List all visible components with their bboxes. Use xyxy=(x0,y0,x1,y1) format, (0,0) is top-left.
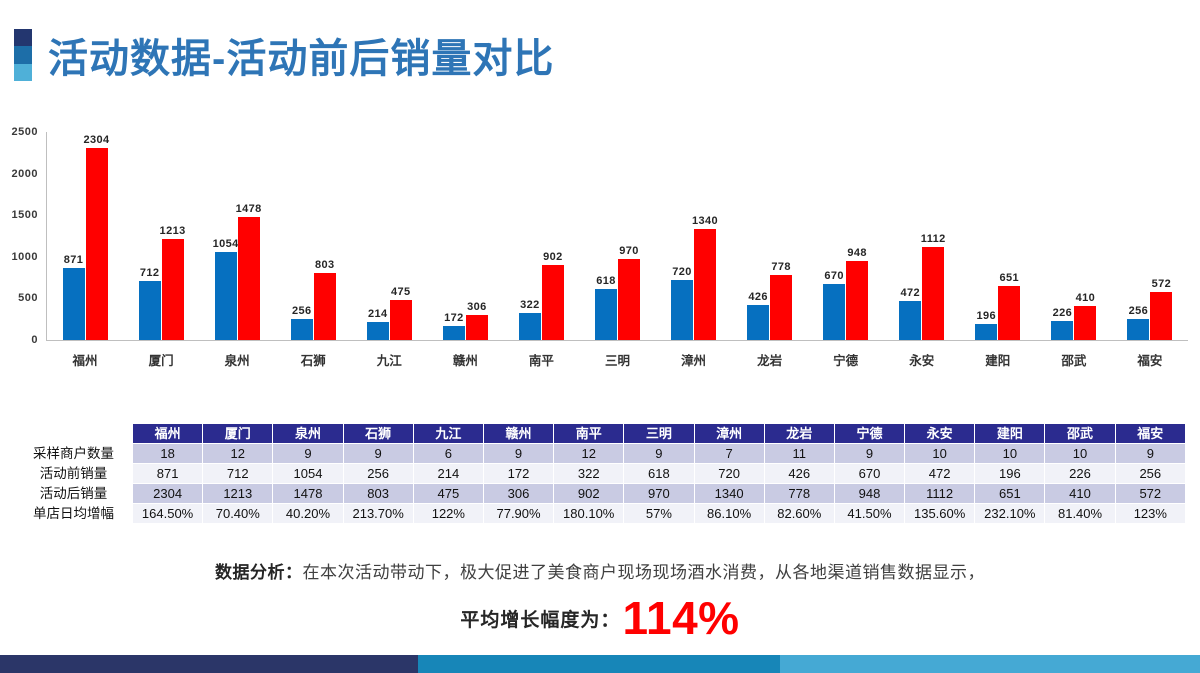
table-cell: 410 xyxy=(1045,484,1115,504)
table-row: 采样商户数量1812996912971191010109 xyxy=(15,444,1186,464)
bar-value-label: 256 xyxy=(1129,305,1149,317)
bar-post-campaign[interactable]: 1213 xyxy=(162,239,184,340)
bar-pre-campaign[interactable]: 426 xyxy=(747,305,769,340)
x-axis-label: 福安 xyxy=(1112,350,1188,369)
table-cell: 180.10% xyxy=(554,504,624,524)
bar-post-campaign[interactable]: 970 xyxy=(618,259,640,340)
table-cell: 213.70% xyxy=(343,504,413,524)
table-cell: 306 xyxy=(483,484,553,504)
bar-group: 7121213 xyxy=(123,132,199,340)
bar-pre-campaign[interactable]: 214 xyxy=(367,322,389,340)
x-axis-label: 建阳 xyxy=(960,350,1036,369)
bar-group: 670948 xyxy=(808,132,884,340)
table-cell: 18 xyxy=(133,444,203,464)
table-head: 福州厦门泉州石狮九江赣州南平三明漳州龙岩宁德永安建阳邵武福安 xyxy=(15,424,1186,444)
bar-group: 196651 xyxy=(960,132,1036,340)
bar-group: 172306 xyxy=(427,132,503,340)
x-axis-label: 厦门 xyxy=(123,350,199,369)
bar-value-label: 871 xyxy=(64,254,84,266)
bar-post-campaign[interactable]: 651 xyxy=(998,286,1020,340)
table-cell: 256 xyxy=(1115,464,1185,484)
table-cell: 472 xyxy=(905,464,975,484)
table-column-header: 邵武 xyxy=(1045,424,1115,444)
footer-segment xyxy=(418,655,780,673)
table-cell: 256 xyxy=(343,464,413,484)
bar-pair: 256803 xyxy=(275,132,351,340)
table-cell: 77.90% xyxy=(483,504,553,524)
table-cell: 778 xyxy=(764,484,834,504)
bar-value-label: 1340 xyxy=(692,215,718,227)
table-column-header: 南平 xyxy=(554,424,624,444)
table-cell: 10 xyxy=(905,444,975,464)
table-column-header: 泉州 xyxy=(273,424,343,444)
bar-value-label: 214 xyxy=(368,308,388,320)
table-column-header: 永安 xyxy=(905,424,975,444)
table-cell: 720 xyxy=(694,464,764,484)
table-cell: 871 xyxy=(133,464,203,484)
table-cell: 322 xyxy=(554,464,624,484)
table-cell: 41.50% xyxy=(834,504,904,524)
table-column-header: 龙岩 xyxy=(764,424,834,444)
bar-pair: 7201340 xyxy=(656,132,732,340)
table-body: 采样商户数量1812996912971191010109活动前销量8717121… xyxy=(15,444,1186,524)
x-axis-label: 三明 xyxy=(579,350,655,369)
table-cell: 40.20% xyxy=(273,504,343,524)
bar-group: 8712304 xyxy=(47,132,123,340)
table-cell: 135.60% xyxy=(905,504,975,524)
table-cell: 651 xyxy=(975,484,1045,504)
analysis-body: 在本次活动带动下，极大促进了美食商户现场现场酒水消费，从各地渠道销售数据显示， xyxy=(303,563,986,582)
bar-value-label: 226 xyxy=(1053,307,1073,319)
bar-group: 10541478 xyxy=(199,132,275,340)
bar-groups: 8712304712121310541478256803214475172306… xyxy=(47,132,1188,340)
table-cell: 670 xyxy=(834,464,904,484)
bar-value-label: 778 xyxy=(771,261,791,273)
bar-value-label: 475 xyxy=(391,286,411,298)
table-cell: 122% xyxy=(413,504,483,524)
table-corner-cell xyxy=(15,424,133,444)
bar-post-campaign[interactable]: 1112 xyxy=(922,247,944,340)
table-cell: 172 xyxy=(483,464,553,484)
data-table: 福州厦门泉州石狮九江赣州南平三明漳州龙岩宁德永安建阳邵武福安 采样商户数量181… xyxy=(14,423,1186,524)
bar-pair: 226410 xyxy=(1036,132,1112,340)
table-cell: 1340 xyxy=(694,484,764,504)
bar-group: 7201340 xyxy=(656,132,732,340)
table-cell: 70.40% xyxy=(203,504,273,524)
footer-segment xyxy=(0,655,418,673)
table-cell: 426 xyxy=(764,464,834,484)
y-axis-tick: 1500 xyxy=(12,209,38,221)
bar-group: 426778 xyxy=(732,132,808,340)
x-axis-label: 永安 xyxy=(884,350,960,369)
x-axis-label: 邵武 xyxy=(1036,350,1112,369)
bar-pair: 10541478 xyxy=(199,132,275,340)
bar-pre-campaign[interactable]: 472 xyxy=(899,301,921,340)
bar-value-label: 472 xyxy=(900,287,920,299)
x-axis-label: 泉州 xyxy=(199,350,275,369)
bar-value-label: 902 xyxy=(543,251,563,263)
average-growth-row: 平均增长幅度为： 114% xyxy=(0,595,1200,641)
data-table-wrap: 福州厦门泉州石狮九江赣州南平三明漳州龙岩宁德永安建阳邵武福安 采样商户数量181… xyxy=(14,423,1186,524)
table-cell: 902 xyxy=(554,484,624,504)
x-axis-label: 赣州 xyxy=(427,350,503,369)
table-column-header: 九江 xyxy=(413,424,483,444)
bar-value-label: 1112 xyxy=(921,233,946,245)
table-column-header: 福州 xyxy=(133,424,203,444)
bar-pair: 8712304 xyxy=(47,132,123,340)
table-cell: 1112 xyxy=(905,484,975,504)
bar-value-label: 651 xyxy=(1000,272,1020,284)
table-cell: 10 xyxy=(1045,444,1115,464)
bar-post-campaign[interactable]: 1340 xyxy=(694,229,716,340)
bar-value-label: 306 xyxy=(467,301,487,313)
bar-post-campaign[interactable]: 2304 xyxy=(86,148,108,340)
page-title: 活动数据-活动前后销量对比 xyxy=(48,26,554,84)
table-cell: 9 xyxy=(273,444,343,464)
bar-post-campaign[interactable]: 572 xyxy=(1150,292,1172,340)
bar-value-label: 196 xyxy=(977,310,997,322)
table-row-header: 单店日均增幅 xyxy=(15,504,133,524)
bar-pre-campaign[interactable]: 196 xyxy=(975,324,997,340)
table-cell: 82.60% xyxy=(764,504,834,524)
analysis-prefix: 数据分析： xyxy=(215,563,303,582)
table-cell: 10 xyxy=(975,444,1045,464)
table-cell: 9 xyxy=(483,444,553,464)
table-cell: 11 xyxy=(764,444,834,464)
x-axis-label: 福州 xyxy=(47,350,123,369)
bar-pair: 172306 xyxy=(427,132,503,340)
bar-post-campaign[interactable]: 410 xyxy=(1074,306,1096,340)
bar-value-label: 712 xyxy=(140,267,160,279)
bar-pre-campaign[interactable]: 322 xyxy=(519,313,541,340)
title-marker-icon xyxy=(14,29,32,81)
page-title-row: 活动数据-活动前后销量对比 xyxy=(0,24,1200,86)
bar-group: 226410 xyxy=(1036,132,1112,340)
table-row: 单店日均增幅164.50%70.40%40.20%213.70%122%77.9… xyxy=(15,504,1186,524)
bar-pair: 214475 xyxy=(351,132,427,340)
bar-value-label: 256 xyxy=(292,305,312,317)
table-header-row: 福州厦门泉州石狮九江赣州南平三明漳州龙岩宁德永安建阳邵武福安 xyxy=(15,424,1186,444)
bar-post-campaign[interactable]: 306 xyxy=(466,315,488,340)
bar-pair: 196651 xyxy=(960,132,1036,340)
bar-pre-campaign[interactable]: 172 xyxy=(443,326,465,340)
table-cell: 572 xyxy=(1115,484,1185,504)
bar-pair: 670948 xyxy=(808,132,884,340)
bar-post-campaign[interactable]: 948 xyxy=(846,261,868,340)
table-row-header: 活动前销量 xyxy=(15,464,133,484)
table-cell: 12 xyxy=(203,444,273,464)
bar-pre-campaign[interactable]: 618 xyxy=(595,289,617,340)
bar-value-label: 322 xyxy=(520,299,540,311)
bar-pair: 426778 xyxy=(732,132,808,340)
bar-pre-campaign[interactable]: 256 xyxy=(1127,319,1149,340)
table-column-header: 三明 xyxy=(624,424,694,444)
bar-pre-campaign[interactable]: 712 xyxy=(139,281,161,340)
table-column-header: 宁德 xyxy=(834,424,904,444)
x-axis-label: 南平 xyxy=(503,350,579,369)
bar-post-campaign[interactable]: 902 xyxy=(542,265,564,340)
bar-value-label: 410 xyxy=(1076,292,1096,304)
table-cell: 2304 xyxy=(133,484,203,504)
x-axis-label: 石狮 xyxy=(275,350,351,369)
bar-pair: 256572 xyxy=(1112,132,1188,340)
bar-pre-campaign[interactable]: 670 xyxy=(823,284,845,340)
bar-pre-campaign[interactable]: 871 xyxy=(63,268,85,340)
bar-chart: 05001000150020002500 8712304712121310541… xyxy=(0,122,1200,392)
bar-value-label: 970 xyxy=(619,245,639,257)
table-column-header: 福安 xyxy=(1115,424,1185,444)
bar-group: 4721112 xyxy=(884,132,960,340)
table-cell: 970 xyxy=(624,484,694,504)
bar-value-label: 803 xyxy=(315,259,335,271)
bar-post-campaign[interactable]: 1478 xyxy=(238,217,260,340)
x-axis-label: 龙岩 xyxy=(732,350,808,369)
footer-segment xyxy=(780,655,1200,673)
bar-pre-campaign[interactable]: 1054 xyxy=(215,252,237,340)
footer-bar xyxy=(0,655,1200,673)
bar-pair: 322902 xyxy=(503,132,579,340)
bar-pre-campaign[interactable]: 720 xyxy=(671,280,693,340)
average-growth-value: 114% xyxy=(622,595,739,641)
bar-value-label: 948 xyxy=(847,247,867,259)
analysis-block: 数据分析：在本次活动带动下，极大促进了美食商户现场现场酒水消费，从各地渠道销售数… xyxy=(0,558,1200,641)
table-cell: 196 xyxy=(975,464,1045,484)
table-cell: 86.10% xyxy=(694,504,764,524)
bar-value-label: 172 xyxy=(444,312,464,324)
bar-group: 322902 xyxy=(503,132,579,340)
table-cell: 1054 xyxy=(273,464,343,484)
table-column-header: 漳州 xyxy=(694,424,764,444)
bar-value-label: 572 xyxy=(1152,278,1172,290)
y-axis-tick: 0 xyxy=(31,334,38,346)
table-cell: 232.10% xyxy=(975,504,1045,524)
bar-value-label: 670 xyxy=(824,270,844,282)
table-column-header: 石狮 xyxy=(343,424,413,444)
y-axis-tick: 2500 xyxy=(12,126,38,138)
table-cell: 9 xyxy=(834,444,904,464)
bar-post-campaign[interactable]: 475 xyxy=(390,300,412,340)
table-row: 活动前销量87171210542562141723226187204266704… xyxy=(15,464,1186,484)
bar-value-label: 426 xyxy=(748,291,768,303)
table-row-header: 采样商户数量 xyxy=(15,444,133,464)
x-axis-label: 漳州 xyxy=(656,350,732,369)
title-marker-block-2 xyxy=(14,46,32,63)
table-column-header: 赣州 xyxy=(483,424,553,444)
bar-pair: 7121213 xyxy=(123,132,199,340)
table-cell: 81.40% xyxy=(1045,504,1115,524)
y-axis-tick: 1000 xyxy=(12,251,38,263)
table-cell: 618 xyxy=(624,464,694,484)
table-cell: 12 xyxy=(554,444,624,464)
table-row: 活动后销量23041213147880347530690297013407789… xyxy=(15,484,1186,504)
bar-post-campaign[interactable]: 778 xyxy=(770,275,792,340)
analysis-text: 数据分析：在本次活动带动下，极大促进了美食商户现场现场酒水消费，从各地渠道销售数… xyxy=(0,558,1200,583)
table-cell: 948 xyxy=(834,484,904,504)
bar-pre-campaign[interactable]: 226 xyxy=(1051,321,1073,340)
x-axis-label: 宁德 xyxy=(808,350,884,369)
bar-value-label: 720 xyxy=(672,266,692,278)
average-growth-label: 平均增长幅度为： xyxy=(460,605,620,632)
x-axis-label: 九江 xyxy=(351,350,427,369)
bar-value-label: 1213 xyxy=(160,225,186,237)
table-cell: 6 xyxy=(413,444,483,464)
table-cell: 803 xyxy=(343,484,413,504)
bar-pair: 618970 xyxy=(579,132,655,340)
y-axis: 05001000150020002500 xyxy=(0,132,44,340)
table-cell: 1478 xyxy=(273,484,343,504)
bar-value-label: 618 xyxy=(596,275,616,287)
table-cell: 123% xyxy=(1115,504,1185,524)
x-axis-labels: 福州厦门泉州石狮九江赣州南平三明漳州龙岩宁德永安建阳邵武福安 xyxy=(47,350,1188,369)
table-cell: 164.50% xyxy=(133,504,203,524)
title-marker-block-1 xyxy=(14,29,32,46)
bar-group: 618970 xyxy=(579,132,655,340)
bar-value-label: 1054 xyxy=(213,238,239,250)
bar-group: 214475 xyxy=(351,132,427,340)
table-column-header: 厦门 xyxy=(203,424,273,444)
title-marker-block-3 xyxy=(14,64,32,81)
bar-pre-campaign[interactable]: 256 xyxy=(291,319,313,340)
y-axis-tick: 2000 xyxy=(12,168,38,180)
table-cell: 9 xyxy=(1115,444,1185,464)
table-cell: 7 xyxy=(694,444,764,464)
x-axis-line xyxy=(46,340,1188,341)
table-cell: 9 xyxy=(343,444,413,464)
bar-value-label: 1478 xyxy=(236,203,262,215)
table-column-header: 建阳 xyxy=(975,424,1045,444)
table-cell: 226 xyxy=(1045,464,1115,484)
y-axis-tick: 500 xyxy=(18,292,38,304)
table-cell: 9 xyxy=(624,444,694,464)
bar-post-campaign[interactable]: 803 xyxy=(314,273,336,340)
bar-pair: 4721112 xyxy=(884,132,960,340)
bar-group: 256803 xyxy=(275,132,351,340)
table-cell: 475 xyxy=(413,484,483,504)
slide: 活动数据-活动前后销量对比 05001000150020002500 87123… xyxy=(0,0,1200,673)
table-row-header: 活动后销量 xyxy=(15,484,133,504)
bar-value-label: 2304 xyxy=(83,134,109,146)
table-cell: 57% xyxy=(624,504,694,524)
table-cell: 214 xyxy=(413,464,483,484)
table-cell: 712 xyxy=(203,464,273,484)
table-cell: 1213 xyxy=(203,484,273,504)
bar-group: 256572 xyxy=(1112,132,1188,340)
